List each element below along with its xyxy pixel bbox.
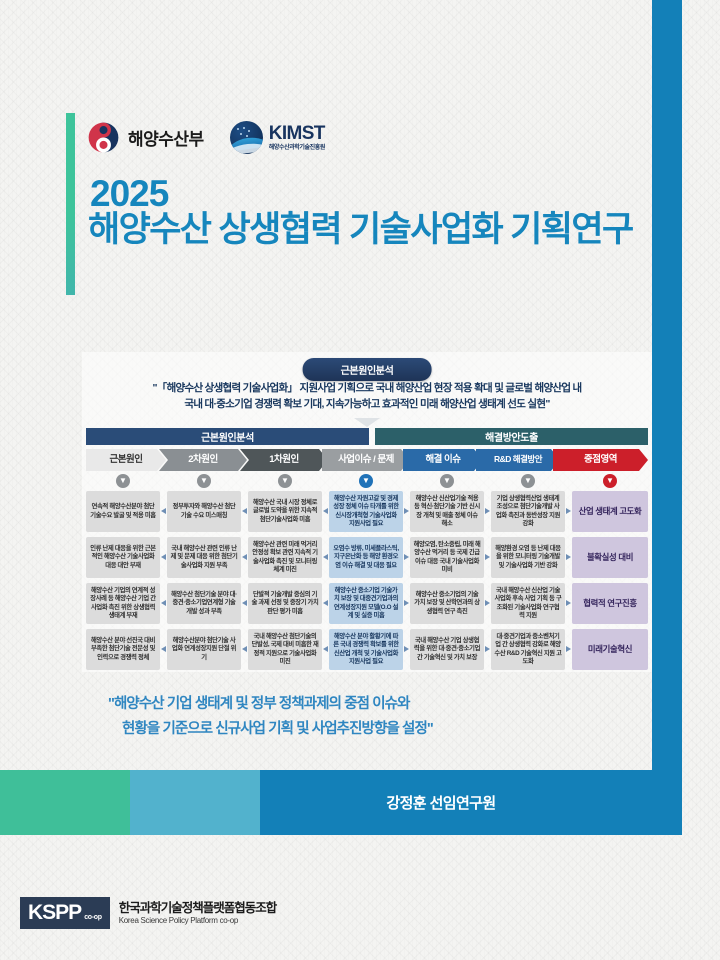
diagram-body-grid: 연속적 해양수산분야 첨단기술수요 발굴 및 적용 미흡 정부투자와 해양수산 … bbox=[86, 491, 648, 675]
summary-quote: "해양수산 기업 생태계 및 정부 정책과제의 중점 이슈와 현황을 기준으로 … bbox=[108, 692, 628, 741]
cell-resolution-issue-3: 해양수산 중소기업의 기술가치 보장 및 산학연과의 상생협력 연구 촉진 bbox=[410, 583, 484, 624]
cell-resolution-issue-2: 해양오염, 탄소중립, 미래 해양수산 먹거리 등 국제 긴급 이슈 대응 국내… bbox=[410, 537, 484, 578]
cell-root-cause-1: 연속적 해양수산분야 첨단기술수요 발굴 및 적용 미흡 bbox=[86, 491, 160, 532]
arrow-right-icon bbox=[404, 554, 409, 560]
summary-quote-line1: "해양수산 기업 생태계 및 정부 정책과제의 중점 이슈와 bbox=[108, 696, 410, 712]
arrow-right-icon bbox=[566, 600, 571, 606]
chevron-down-icon-col5: ▼ bbox=[440, 474, 454, 488]
cell-rnd-solution-2: 해양환경 오염 등 난제 대응을 위한 모니터링 기술개발 및 기술사업화 기반… bbox=[491, 537, 565, 578]
section-header-root-cause: 근본원인분석 bbox=[86, 428, 369, 445]
kspp-name-korean: 한국과학기술정책플랫폼협동조합 bbox=[119, 901, 277, 915]
arrow-right-icon bbox=[485, 508, 490, 514]
title-accent-bar bbox=[66, 113, 75, 295]
arrow-right-icon bbox=[485, 646, 490, 652]
diagram-down-arrows: ▼ ▼ ▼ ▼ ▼ ▼ ▼ bbox=[86, 474, 648, 488]
right-accent-bar bbox=[652, 0, 682, 835]
table-row: 해양수산 기업의 연계적 성장사례 등 해양수산 기업 간 사업화 촉진 위한 … bbox=[86, 583, 648, 624]
cell-primary-cause-2: 해양수산 관련 미래 먹거리 안정성 확보 관련 지속적 기술사업화 촉진 및 … bbox=[248, 537, 322, 578]
taegeuk-icon bbox=[88, 122, 119, 153]
cell-focus-area-3: 협력적 연구진흥 bbox=[572, 583, 648, 624]
cell-focus-area-2: 불확실성 대비 bbox=[572, 537, 648, 578]
agency-logo: KIMST 해양수산과학기술진흥원 bbox=[230, 121, 325, 154]
cell-primary-cause-3: 단발적 기술개발 중심의 기술 과제 선정 및 중장기 가치판단 평가 미흡 bbox=[248, 583, 322, 624]
arrow-left-icon bbox=[161, 508, 166, 514]
arrow-right-icon bbox=[566, 554, 571, 560]
cell-focus-area-1: 산업 생태계 고도화 bbox=[572, 491, 648, 532]
column-header-root-cause[interactable]: 근본원인 bbox=[86, 449, 166, 471]
title-year: 2025 bbox=[90, 175, 168, 212]
footer-logo: KSPP co-op 한국과학기술정책플랫폼협동조합 Korea Science… bbox=[20, 897, 276, 929]
kspp-name-english: Korea Science Policy Platform co-op bbox=[119, 916, 277, 925]
table-row: 인류 난제 대응을 위한 근본적인 해양수산 기술사업화 대응 대안 부재 국내… bbox=[86, 537, 648, 578]
arrow-right-icon bbox=[566, 508, 571, 514]
kspp-org-name: 한국과학기술정책플랫폼협동조합 Korea Science Policy Pla… bbox=[119, 901, 277, 925]
poster-slide: 해양수산부 KIMST 해양수산과학기술진흥원 2025 해양수산 상생협력 기… bbox=[0, 0, 720, 960]
root-cause-analysis-diagram: 근본원인분석 "「해양수산 상생협력 기술사업화」 지원사업 기획으로 국내 해… bbox=[82, 352, 652, 672]
column-header-resolution-issue[interactable]: 해결 이슈 bbox=[403, 449, 483, 471]
column-header-secondary-cause[interactable]: 2차원인 bbox=[159, 449, 247, 471]
chevron-down-icon-col3: ▼ bbox=[278, 474, 292, 488]
arrow-left-icon bbox=[161, 646, 166, 652]
arrow-left-icon bbox=[242, 600, 247, 606]
kimst-stars bbox=[236, 127, 252, 137]
cell-business-issue-3: 해양수산 중소기업 기술가치 보장 및 대중견기업과의 연계성장지원 모델(O.… bbox=[329, 583, 403, 624]
page-title: 해양수산 상생협력 기술사업화 기획연구 bbox=[88, 210, 658, 251]
cell-secondary-cause-3: 해양수산 첨단기술 분야 대·중견·중소기업연계형 기술개발 성과 부족 bbox=[167, 583, 241, 624]
diagram-badge: 근본원인분석 bbox=[303, 358, 432, 381]
cell-business-issue-2: 오염수 방류, 미세플라스틱, 지구온난화 등 해양 환경오염 이슈 해결 및 … bbox=[329, 537, 403, 578]
arrow-right-icon bbox=[404, 600, 409, 606]
band-segment-green bbox=[0, 770, 130, 835]
arrow-right-icon bbox=[485, 600, 490, 606]
cell-resolution-issue-4: 국내 해양수산 기업 상생협력을 위한 대·중견·중소기업 간 기술혁신 및 가… bbox=[410, 629, 484, 670]
kimst-globe-icon bbox=[230, 121, 263, 154]
chevron-down-icon-col6: ▼ bbox=[521, 474, 535, 488]
column-header-rnd-solution[interactable]: R&D 해결방안 bbox=[476, 449, 560, 471]
diagram-pointer-icon bbox=[354, 418, 380, 427]
arrow-left-icon bbox=[161, 600, 166, 606]
kspp-acronym: KSPP bbox=[28, 902, 81, 923]
section-header-solution: 해결방안도출 bbox=[375, 428, 648, 445]
chevron-down-icon-col2: ▼ bbox=[197, 474, 211, 488]
diagram-goal-line2: 국내 대·중소기업 경쟁력 확보 기대, 지속가능하고 효과적인 미래 해양산업… bbox=[96, 396, 638, 412]
arrow-left-icon bbox=[242, 508, 247, 514]
cell-rnd-solution-3: 국내 해양수산 신산업 기술사업화 후속 사업 기획 등 구조화된 기술사업화 … bbox=[491, 583, 565, 624]
agency-sub-name: 해양수산과학기술진흥원 bbox=[269, 145, 325, 151]
table-row: 해양수산 분야 선진국 대비 부족한 첨단기술 전문성 및 인력으로 경쟁력 정… bbox=[86, 629, 648, 670]
diagram-column-headers: 근본원인 2차원인 1차원인 사업이슈 / 문제 해결 이슈 R&D 해결방안 … bbox=[86, 449, 648, 471]
kspp-logo-mark: KSPP co-op bbox=[20, 897, 110, 929]
arrow-left-icon bbox=[323, 554, 328, 560]
cell-rnd-solution-1: 기업 상생협력산업 생태계 조성으로 첨단기술개발 사업화 촉진과 동반성장 지… bbox=[491, 491, 565, 532]
cell-rnd-solution-4: 대·중견기업과 중소벤처기업 간 상생협력 강화로 해양수산 R&D 기술혁신 … bbox=[491, 629, 565, 670]
ministry-logo: 해양수산부 bbox=[88, 122, 204, 153]
cell-primary-cause-4: 국내 해양수산 첨단기술의 단발성, 국제 대비 미흡한 재정적 지원으로 기술… bbox=[248, 629, 322, 670]
agency-name: KIMST bbox=[269, 124, 325, 143]
table-row: 연속적 해양수산분야 첨단기술수요 발굴 및 적용 미흡 정부투자와 해양수산 … bbox=[86, 491, 648, 532]
ministry-name: 해양수산부 bbox=[128, 125, 204, 150]
summary-quote-line2: 현황을 기준으로 신규사업 기획 및 사업추진방향을 설정" bbox=[108, 717, 628, 742]
cell-business-issue-1: 해양수산 자원고갈 및 경제성장 정체 이슈 타개를 위한 신시장개척형 기술사… bbox=[329, 491, 403, 532]
kimst-wordmark: KIMST 해양수산과학기술진흥원 bbox=[269, 124, 325, 151]
arrow-left-icon bbox=[242, 646, 247, 652]
kspp-coop-label: co-op bbox=[84, 914, 102, 921]
arrow-left-icon bbox=[161, 554, 166, 560]
cell-secondary-cause-2: 국내 해양수산 관련 인류 난제 및 문제 대응 위한 첨단기술사업화 지원 부… bbox=[167, 537, 241, 578]
chevron-down-icon-col1: ▼ bbox=[116, 474, 130, 488]
arrow-right-icon bbox=[404, 508, 409, 514]
band-segment-blue: 강정훈 선임연구원 bbox=[260, 770, 682, 835]
cell-secondary-cause-4: 해양수산분야 첨단기술 사업화 연계성장지원 단절 위기 bbox=[167, 629, 241, 670]
diagram-section-headers: 근본원인분석 해결방안도출 bbox=[86, 428, 648, 445]
cell-business-issue-4: 해양수산 분야 활황기에 따른 국내 경쟁력 확보를 위한 신산업 개척 및 기… bbox=[329, 629, 403, 670]
author-name: 강정훈 선임연구원 bbox=[386, 792, 495, 813]
arrow-right-icon bbox=[485, 554, 490, 560]
band-segment-teal bbox=[130, 770, 260, 835]
column-header-business-issue[interactable]: 사업이슈 / 문제 bbox=[322, 449, 410, 471]
author-band: 강정훈 선임연구원 bbox=[0, 770, 682, 835]
chevron-down-icon-col4: ▼ bbox=[359, 474, 373, 488]
arrow-left-icon bbox=[323, 508, 328, 514]
arrow-right-icon bbox=[404, 646, 409, 652]
chevron-down-icon-col7: ▼ bbox=[603, 474, 617, 488]
cell-root-cause-3: 해양수산 기업의 연계적 성장사례 등 해양수산 기업 간 사업화 촉진 위한 … bbox=[86, 583, 160, 624]
column-header-focus-area[interactable]: 중점영역 bbox=[553, 449, 648, 471]
arrow-left-icon bbox=[323, 600, 328, 606]
column-header-primary-cause[interactable]: 1차원인 bbox=[240, 449, 328, 471]
cell-root-cause-2: 인류 난제 대응을 위한 근본적인 해양수산 기술사업화 대응 대안 부재 bbox=[86, 537, 160, 578]
arrow-left-icon bbox=[242, 554, 247, 560]
cell-resolution-issue-1: 해양수산 신산업기술 적용 등 혁신·첨단기술 기반 신시장 개척 및 매출 정… bbox=[410, 491, 484, 532]
cell-root-cause-4: 해양수산 분야 선진국 대비 부족한 첨단기술 전문성 및 인력으로 경쟁력 정… bbox=[86, 629, 160, 670]
diagram-goal-line1: "「해양수산 상생협력 기술사업화」 지원사업 기획으로 국내 해양산업 현장 … bbox=[96, 380, 638, 396]
logo-group: 해양수산부 KIMST 해양수산과학기술진흥원 bbox=[88, 121, 325, 154]
cell-secondary-cause-1: 정부투자와 해양수산 첨단기술 수요 미스매칭 bbox=[167, 491, 241, 532]
cell-focus-area-4: 미래기술혁신 bbox=[572, 629, 648, 670]
arrow-right-icon bbox=[566, 646, 571, 652]
cell-primary-cause-1: 해양수산 국내 시장 정체로 글로벌 도약을 위한 지속적 첨단기술사업화 미흡 bbox=[248, 491, 322, 532]
diagram-goal-statement: "「해양수산 상생협력 기술사업화」 지원사업 기획으로 국내 해양산업 현장 … bbox=[96, 380, 638, 413]
arrow-left-icon bbox=[323, 646, 328, 652]
